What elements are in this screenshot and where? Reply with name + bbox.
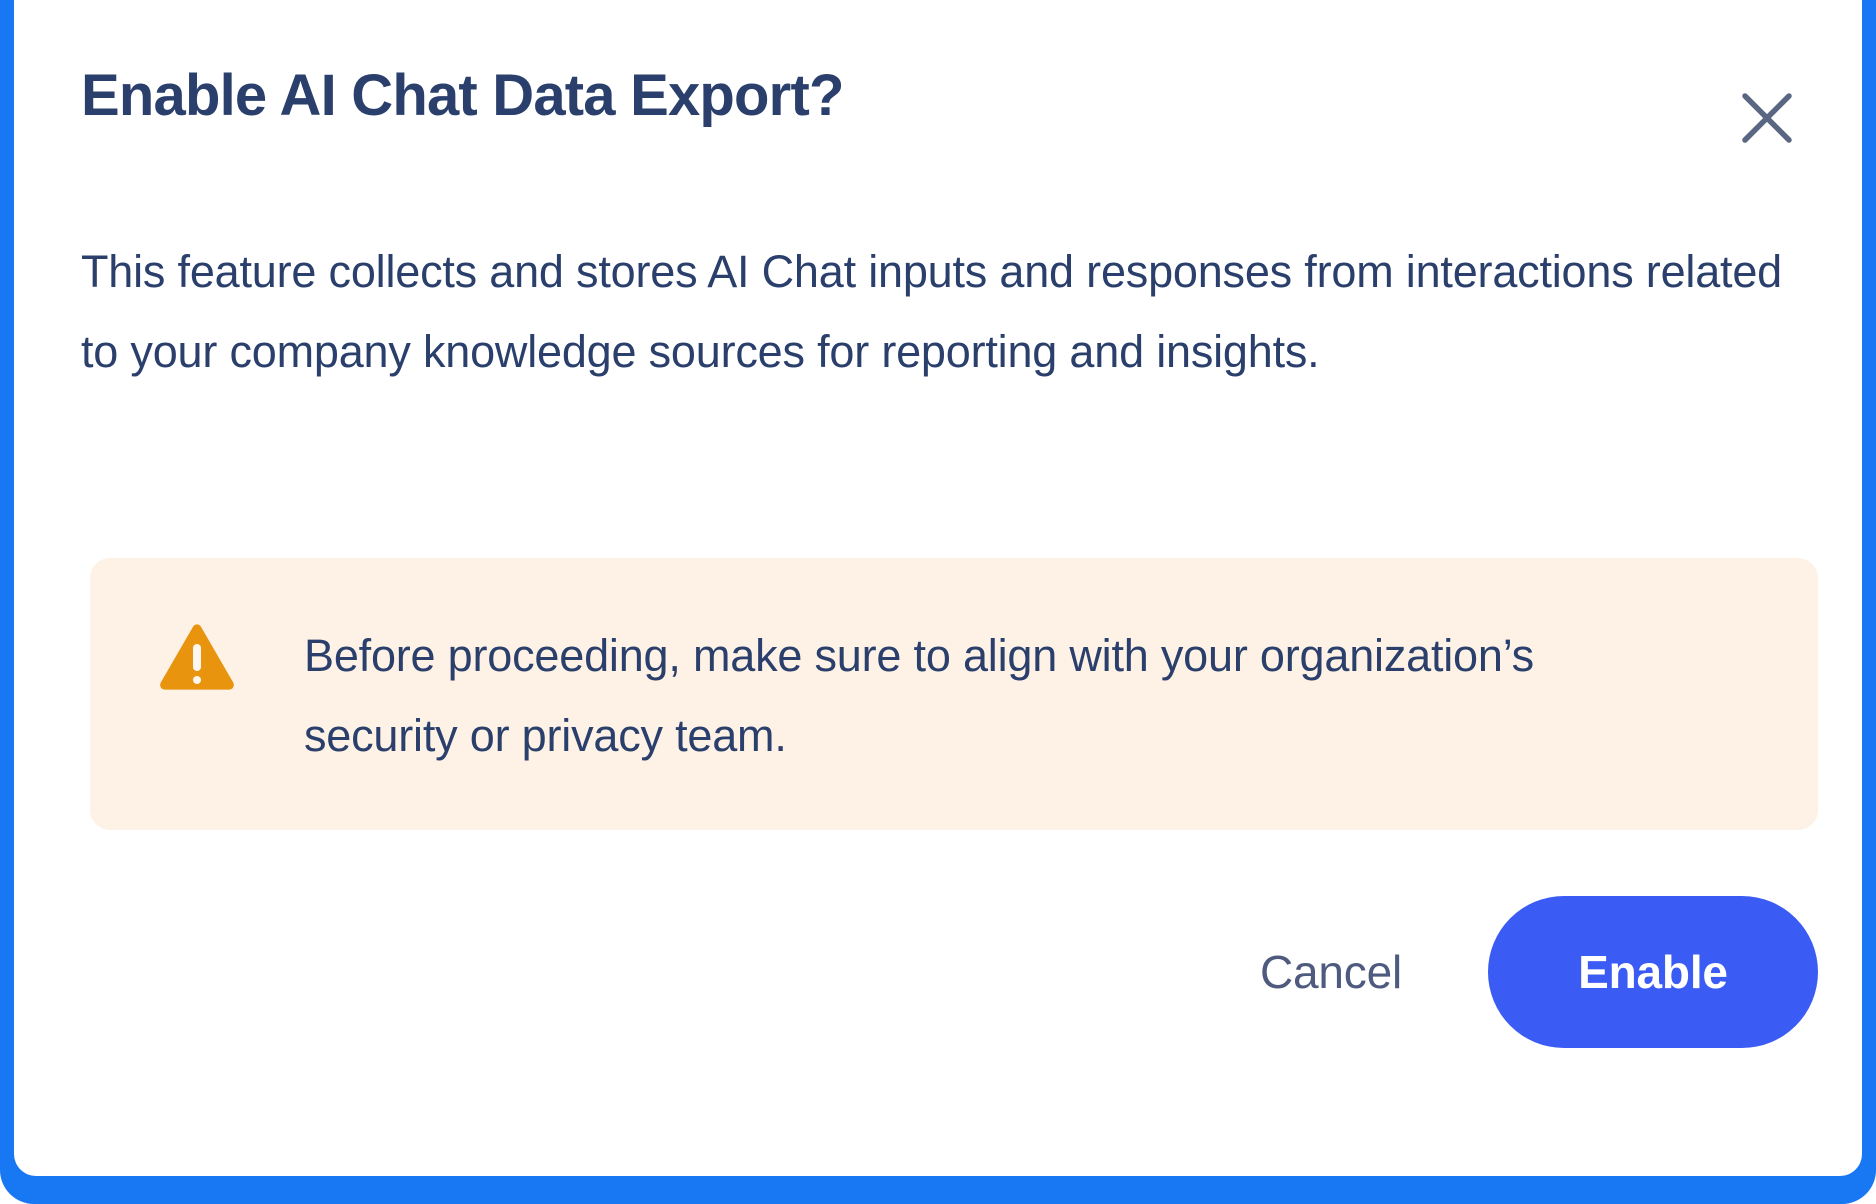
- enable-button[interactable]: Enable: [1488, 896, 1818, 1048]
- dialog-title: Enable AI Chat Data Export?: [81, 60, 844, 132]
- modal-backdrop-frame: Enable AI Chat Data Export? This feature…: [0, 0, 1876, 1204]
- dialog-body-text: This feature collects and stores AI Chat…: [81, 232, 1795, 392]
- warning-triangle-icon: [158, 622, 236, 694]
- confirmation-dialog: Enable AI Chat Data Export? This feature…: [14, 0, 1862, 1176]
- warning-banner-text: Before proceeding, make sure to align wi…: [304, 616, 1604, 776]
- close-x-icon: [1741, 92, 1793, 144]
- close-dialog-button[interactable]: [1721, 72, 1813, 164]
- cancel-button[interactable]: Cancel: [1216, 924, 1446, 1020]
- dialog-header: Enable AI Chat Data Export?: [14, 0, 1862, 190]
- dialog-footer-actions: Cancel Enable: [14, 888, 1818, 1056]
- warning-banner: Before proceeding, make sure to align wi…: [90, 558, 1818, 830]
